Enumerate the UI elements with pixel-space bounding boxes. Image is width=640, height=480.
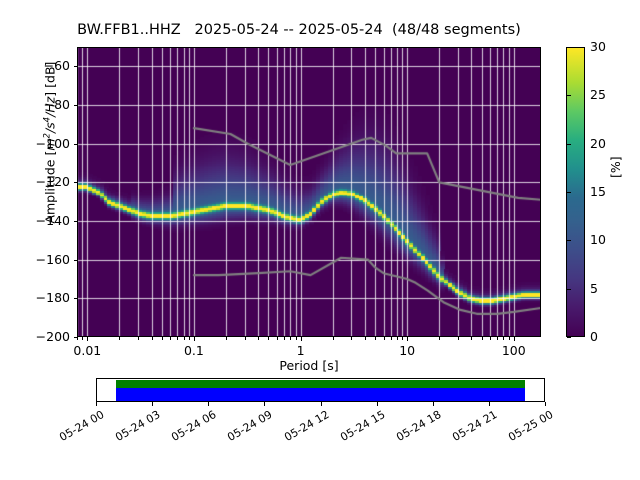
x-tickmark-minor [177,337,178,340]
timeline-tick-label: 05-24 12 [267,408,331,452]
x-tickmark-minor [490,337,491,340]
x-tickmark-minor [170,337,171,340]
timeline-tickmark [96,402,97,406]
x-tick-label: 0.01 [57,343,117,358]
x-tick-label: 0.1 [164,343,224,358]
data-coverage-green [116,380,525,388]
y-tickmark [74,221,78,222]
timeline-tickmark [377,402,378,406]
x-tickmark-minor [77,337,78,340]
timeline-tick-label: 05-24 09 [211,408,275,452]
x-tickmark-minor [497,337,498,340]
timeline-tickmark [152,402,153,406]
x-tickmark-minor [333,337,334,340]
timeline-tickmark [489,402,490,406]
y-tickmark [74,66,78,67]
timeline-tickmark [208,402,209,406]
y-tick-label: −80 [0,97,70,112]
x-tickmark-minor [503,337,504,340]
x-tickmark-minor [258,337,259,340]
y-tick-label: −120 [0,174,70,189]
x-tickmark-major [407,337,408,341]
x-tickmark-minor [471,337,472,340]
x-tickmark-minor [189,337,190,340]
x-tickmark-minor [458,337,459,340]
x-tickmark-minor [226,337,227,340]
x-tickmark-minor [397,337,398,340]
colorbar-tick-label: 15 [590,184,606,199]
x-tickmark-minor [365,337,366,340]
x-tickmark-minor [290,337,291,340]
x-tick-label: 10 [377,343,437,358]
x-tickmark-minor [82,337,83,340]
x-tickmark-minor [119,337,120,340]
timeline-tick-label: 05-24 18 [380,408,444,452]
x-tickmark-minor [277,337,278,340]
ppsd-plot-area[interactable] [77,47,541,337]
x-tick-label: 1 [271,343,331,358]
x-tickmark-major [301,337,302,341]
timeline-tickmark [264,402,265,406]
x-axis-label: Period [s] [77,358,541,373]
x-tickmark-minor [439,337,440,340]
x-tickmark-minor [162,337,163,340]
x-tickmark-minor [482,337,483,340]
colorbar-tickmark [567,337,571,338]
y-tick-label: −100 [0,136,70,151]
x-tickmark-minor [152,337,153,340]
timeline-tickmark [321,402,322,406]
colorbar-tick-label: 20 [590,136,606,151]
y-tickmark [74,144,78,145]
colorbar-tickmark [567,240,571,241]
colorbar-tick-label: 25 [590,87,606,102]
x-tickmark-minor [184,337,185,340]
x-tickmark-minor [375,337,376,340]
page-title: BW.FFB1..HHZ 2025-05-24 -- 2025-05-24 (4… [0,22,598,38]
timeline-tick-label: 05-24 06 [155,408,219,452]
x-tick-label: 100 [484,343,544,358]
x-tickmark-minor [391,337,392,340]
colorbar-tick-label: 0 [590,329,598,344]
x-tickmark-minor [402,337,403,340]
y-tick-label: −60 [0,58,70,73]
x-tickmark-minor [384,337,385,340]
colorbar-tick-label: 30 [590,39,606,54]
y-tick-label: −140 [0,213,70,228]
y-tick-label: −200 [0,329,70,344]
x-tickmark-major [514,337,515,341]
timeline-tick-label: 05-24 03 [99,408,163,452]
colorbar-tick-label: 5 [590,281,598,296]
colorbar-tickmark [567,95,571,96]
colorbar-tick-label: 10 [590,232,606,247]
x-tickmark-major [87,337,88,341]
x-tickmark-minor [284,337,285,340]
colorbar-label: [%] [608,156,623,178]
y-tick-label: −160 [0,252,70,267]
x-tickmark-minor [268,337,269,340]
timeline-tickmark [433,402,434,406]
colorbar-tickmark [567,289,571,290]
x-tickmark-minor [509,337,510,340]
colorbar-tickmark [567,144,571,145]
y-tickmark [74,298,78,299]
x-tickmark-minor [245,337,246,340]
ppsd-density-heatmap [77,47,541,337]
y-tick-label: −180 [0,290,70,305]
timeline-tick-label: 05-24 15 [323,408,387,452]
timeline-tick-label: 05-24 21 [436,408,500,452]
x-tickmark-major [194,337,195,341]
x-tickmark-minor [296,337,297,340]
x-tickmark-minor [351,337,352,340]
timeline-tick-label: 05-24 00 [43,408,107,452]
colorbar-tickmark [567,47,571,48]
y-tickmark [74,105,78,106]
data-coverage-blue [116,388,525,401]
timeline-tickmark [545,402,546,406]
timeline-tick-label: 05-25 00 [492,408,556,452]
y-tickmark [74,260,78,261]
ppsd-figure: BW.FFB1..HHZ 2025-05-24 -- 2025-05-24 (4… [0,0,640,480]
x-tickmark-minor [138,337,139,340]
y-tickmark [74,182,78,183]
colorbar-tickmark [567,192,571,193]
